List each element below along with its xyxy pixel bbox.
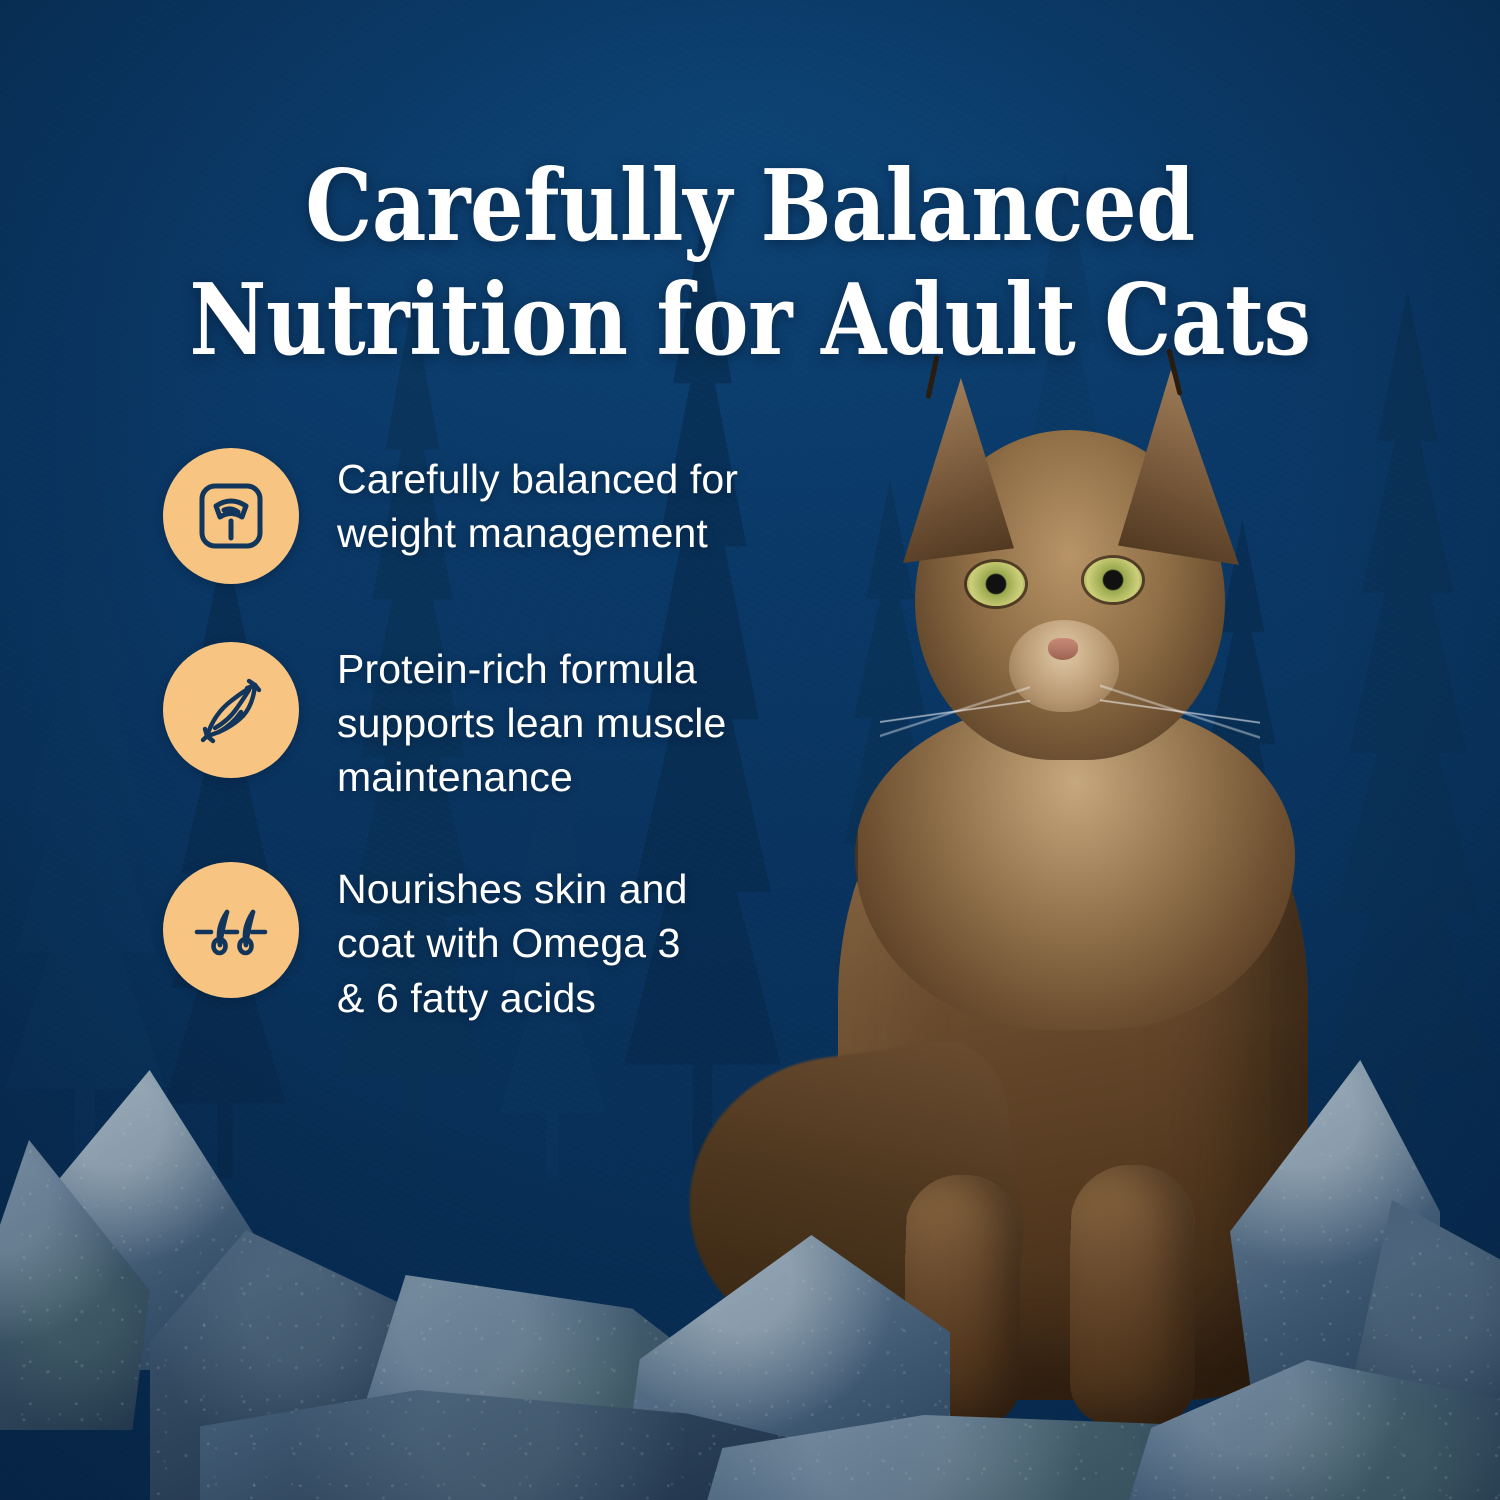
feature-item-skin-coat: Nourishes skin and coat with Omega 3 & 6… xyxy=(163,862,783,1024)
weight-scale-icon xyxy=(163,448,299,584)
cat-eye-right xyxy=(1084,558,1142,602)
cat-whiskers-left xyxy=(880,676,1030,746)
cat-whiskers-right xyxy=(1100,676,1260,746)
feature-list: Carefully balanced for weight management… xyxy=(163,448,783,1025)
feature-text-skin-coat: Nourishes skin and coat with Omega 3 & 6… xyxy=(337,862,687,1024)
product-feature-banner: Carefully Balanced Nutrition for Adult C… xyxy=(0,0,1500,1500)
cat-eye-left xyxy=(967,562,1025,606)
feature-text-protein: Protein-rich formula supports lean muscl… xyxy=(337,642,726,804)
muscle-fiber-icon xyxy=(163,642,299,778)
feature-item-weight-management: Carefully balanced for weight management xyxy=(163,448,783,584)
rock-foreground xyxy=(0,1030,1500,1500)
hair-follicle-icon xyxy=(163,862,299,998)
page-title: Carefully Balanced Nutrition for Adult C… xyxy=(105,150,1395,379)
feature-text-weight-management: Carefully balanced for weight management xyxy=(337,448,738,560)
cat-nose xyxy=(1048,638,1078,660)
feature-item-protein: Protein-rich formula supports lean muscl… xyxy=(163,642,783,804)
